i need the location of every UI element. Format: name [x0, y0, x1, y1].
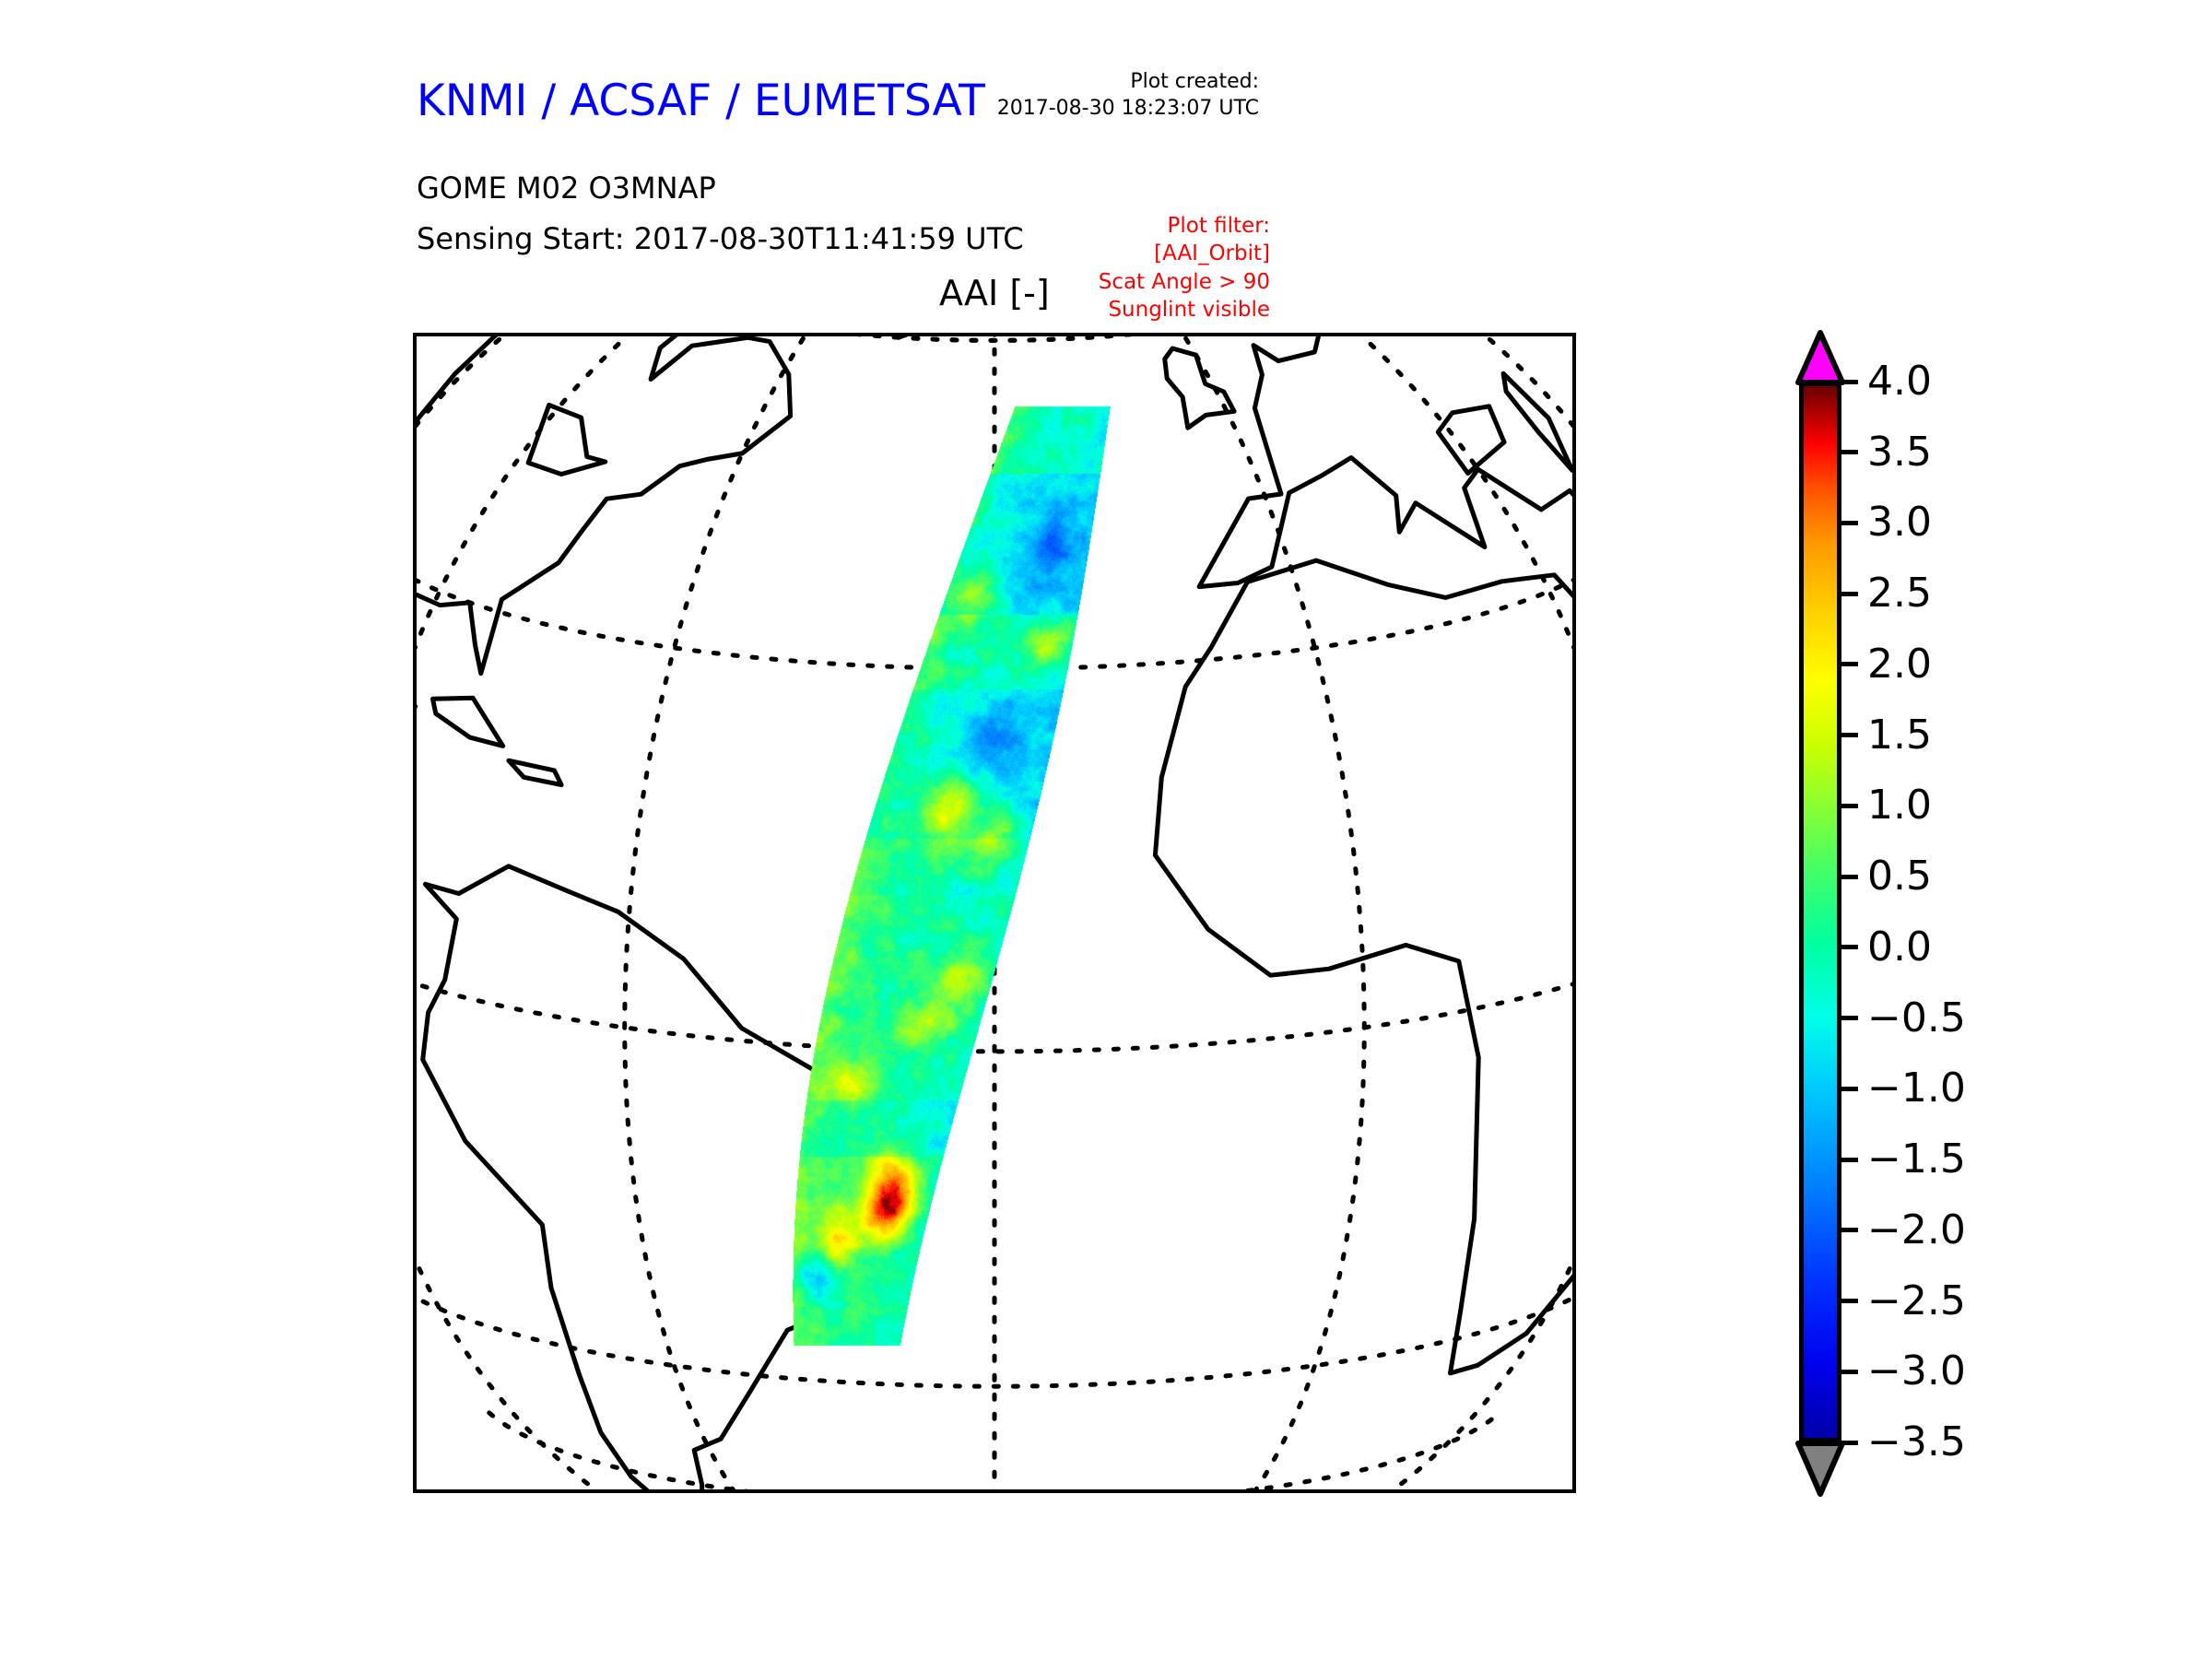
colorbar-tick-label: 1.0 — [1867, 785, 1932, 826]
plot-created-value: 2017-08-30 18:23:07 UTC — [997, 96, 1259, 123]
plot-filter-block: Plot filter: [AAI_Orbit] Scat Angle > 90… — [1099, 212, 1270, 324]
colorbar-tick-label: −1.0 — [1867, 1068, 1966, 1109]
aai-swath-raster — [417, 336, 1572, 1489]
colorbar-tick-label: 2.5 — [1867, 573, 1932, 614]
colorbar-tick — [1841, 1158, 1858, 1162]
plot-created-label: Plot created: — [997, 69, 1259, 96]
colorbar-tick — [1841, 1441, 1858, 1445]
colorbar-tick-label: −3.0 — [1867, 1351, 1966, 1392]
colorbar-tick — [1841, 662, 1858, 666]
colorbar-tick — [1841, 592, 1858, 596]
map-panel — [413, 333, 1576, 1493]
organization-title: KNMI / ACSAF / EUMETSAT — [417, 76, 985, 126]
colorbar-tick — [1841, 521, 1858, 525]
colorbar-tick-label: 0.0 — [1867, 927, 1932, 968]
colorbar-tick — [1841, 1087, 1858, 1091]
sensing-start: Sensing Start: 2017-08-30T11:41:59 UTC — [417, 221, 1024, 256]
plot-filter-line-2: Scat Angle > 90 — [1099, 268, 1270, 296]
colorbar-tick — [1841, 804, 1858, 808]
colorbar-tick-label: −2.0 — [1867, 1210, 1966, 1251]
colorbar-under-arrow — [1795, 1440, 1845, 1497]
colorbar-tick-label: 1.5 — [1867, 715, 1932, 756]
plot-title: AAI [-] — [939, 273, 1050, 313]
colorbar-tick — [1841, 380, 1858, 384]
colorbar-tick — [1841, 1016, 1858, 1020]
product-name: GOME M02 O3MNAP — [417, 171, 716, 206]
colorbar-tick-label: 3.5 — [1867, 432, 1932, 473]
colorbar[interactable]: 4.03.53.02.52.01.51.00.50.0−0.5−1.0−1.5−… — [1795, 330, 2183, 1497]
colorbar-tick — [1841, 450, 1858, 454]
plot-page: KNMI / ACSAF / EUMETSAT Plot created: 20… — [0, 0, 2212, 1659]
colorbar-tick — [1841, 1228, 1858, 1232]
colorbar-tick-label: −0.5 — [1867, 998, 1966, 1039]
colorbar-tick-label: −2.5 — [1867, 1281, 1966, 1322]
colorbar-tick — [1841, 733, 1858, 737]
colorbar-tick-label: −3.5 — [1867, 1422, 1966, 1463]
colorbar-tick — [1841, 1299, 1858, 1303]
plot-filter-line-3: Sunglint visible — [1099, 296, 1270, 324]
plot-filter-line-0: Plot filter: — [1099, 212, 1270, 240]
colorbar-over-arrow — [1795, 330, 1845, 385]
colorbar-tick-label: 3.0 — [1867, 502, 1932, 543]
plot-filter-line-1: [AAI_Orbit] — [1099, 240, 1270, 267]
colorbar-tick-label: −1.5 — [1867, 1139, 1966, 1180]
colorbar-tick-label: 4.0 — [1867, 361, 1932, 402]
colorbar-tick — [1841, 1370, 1858, 1374]
colorbar-tick — [1841, 945, 1858, 949]
plot-created-block: Plot created: 2017-08-30 18:23:07 UTC — [997, 69, 1259, 122]
colorbar-tick-label: 2.0 — [1867, 644, 1932, 685]
colorbar-gradient[interactable] — [1799, 382, 1841, 1442]
colorbar-tick — [1841, 875, 1858, 879]
colorbar-tick-label: 0.5 — [1867, 856, 1932, 897]
